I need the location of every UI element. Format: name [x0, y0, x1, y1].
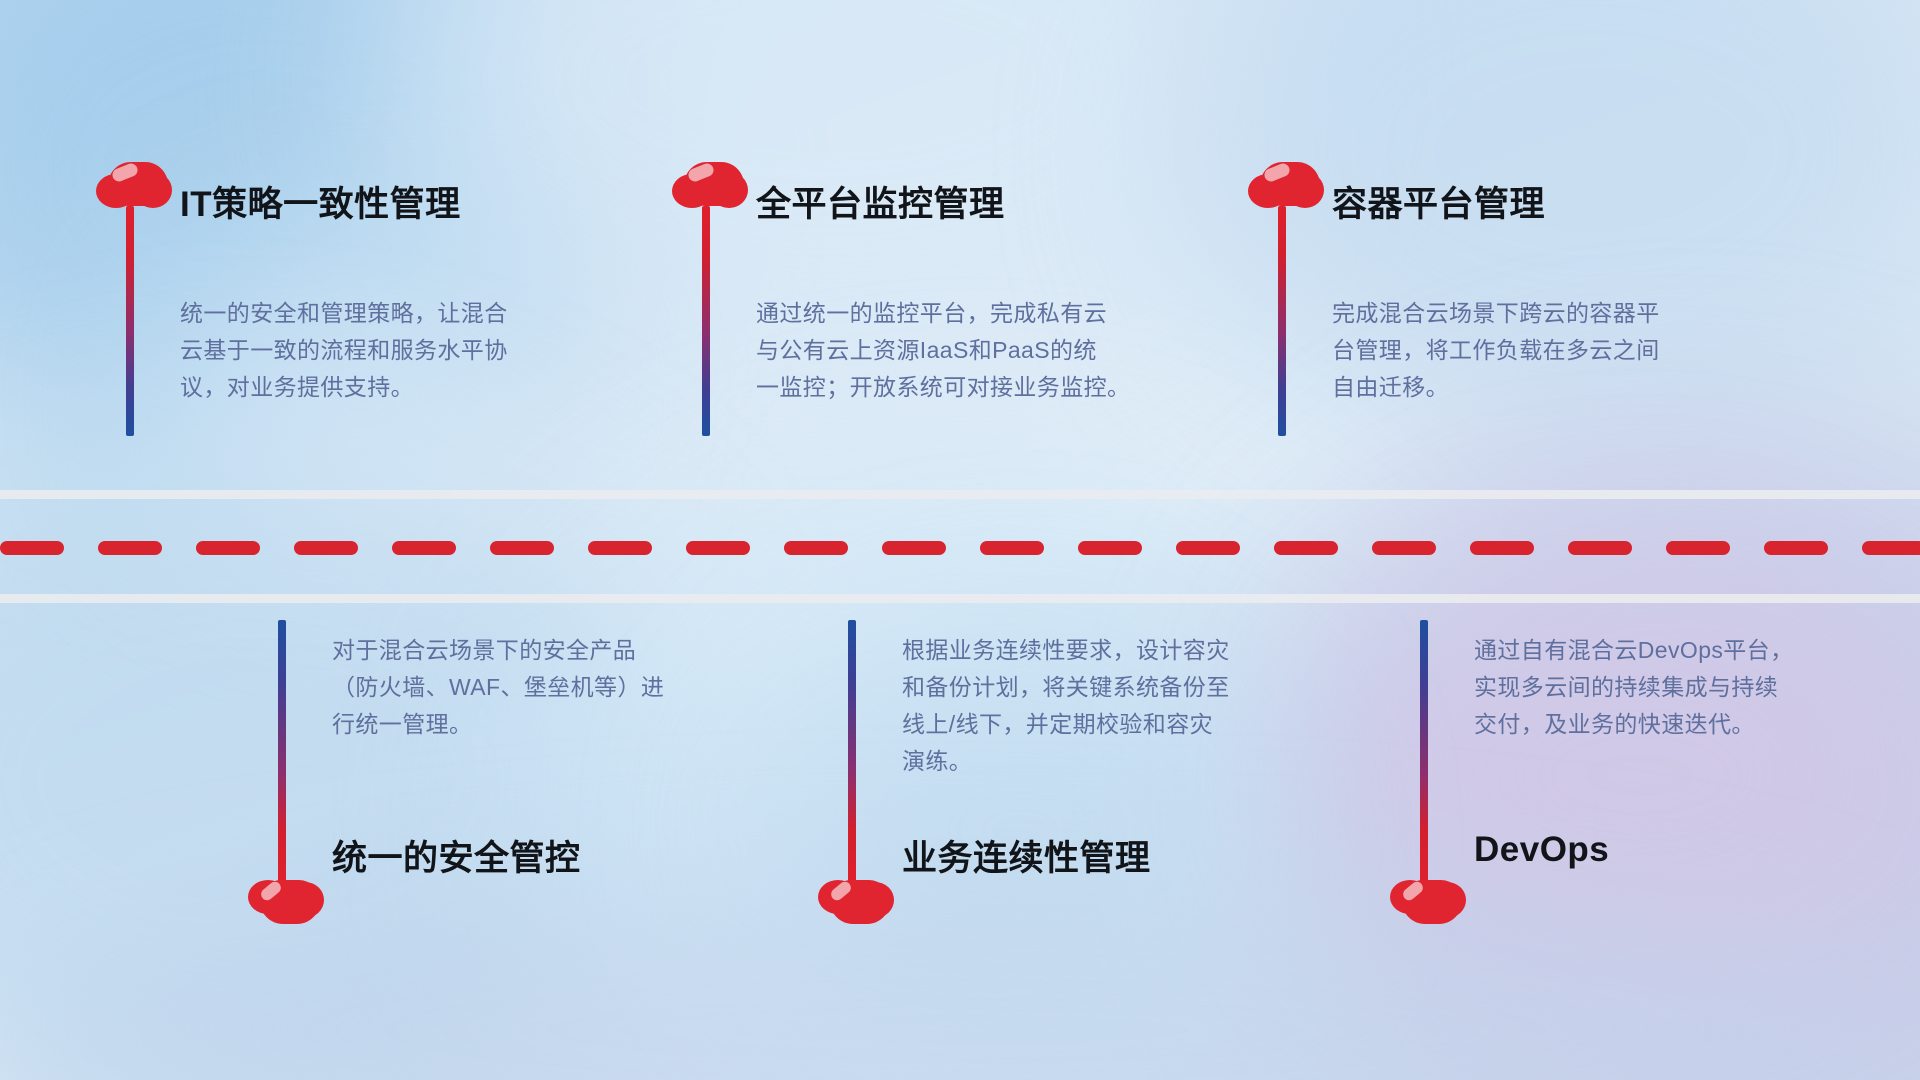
pin-stem	[278, 620, 286, 882]
body-line: 通过自有混合云DevOps平台，	[1474, 632, 1904, 669]
body-line: 统一的安全和管理策略，让混合	[180, 295, 600, 332]
pin-marker-top-2	[672, 160, 762, 210]
bottom-item-1-title: 统一的安全管控	[332, 830, 581, 881]
pin-stem	[1420, 620, 1428, 882]
dash-segment	[98, 541, 162, 555]
dash-segment	[980, 541, 1044, 555]
top-item-3-body: 完成混合云场景下跨云的容器平 台管理，将工作负载在多云之间 自由迁移。	[1332, 295, 1772, 406]
dash-segment	[1862, 541, 1920, 555]
body-line: 对于混合云场景下的安全产品	[332, 632, 762, 669]
body-line: 和备份计划，将关键系统备份至	[902, 669, 1332, 706]
cloud-icon	[248, 878, 324, 928]
top-item-1-body: 统一的安全和管理策略，让混合 云基于一致的流程和服务水平协 议，对业务提供支持。	[180, 295, 600, 406]
dash-segment	[1078, 541, 1142, 555]
pin-stem	[702, 206, 710, 436]
body-line: 云基于一致的流程和服务水平协	[180, 332, 600, 369]
body-line: 完成混合云场景下跨云的容器平	[1332, 295, 1772, 332]
dash-segment	[490, 541, 554, 555]
dash-segment	[882, 541, 946, 555]
dash-segment	[196, 541, 260, 555]
pin-marker-top-1	[96, 160, 186, 210]
top-item-1-title: IT策略一致性管理	[180, 176, 461, 227]
body-line: 交付，及业务的快速迭代。	[1474, 706, 1904, 743]
pin-stem	[1278, 206, 1286, 436]
divider-line-bottom	[0, 594, 1920, 603]
bottom-item-2-body: 根据业务连续性要求，设计容灾 和备份计划，将关键系统备份至 线上/线下，并定期校…	[902, 632, 1332, 780]
top-item-2-body: 通过统一的监控平台，完成私有云 与公有云上资源IaaS和PaaS的统 一监控；开…	[756, 295, 1196, 406]
infographic-canvas: IT策略一致性管理 统一的安全和管理策略，让混合 云基于一致的流程和服务水平协 …	[0, 0, 1920, 1080]
body-line: （防火墙、WAF、堡垒机等）进	[332, 669, 762, 706]
dash-segment	[1176, 541, 1240, 555]
bottom-item-3-title: DevOps	[1474, 830, 1609, 870]
divider-line-top	[0, 490, 1920, 499]
dash-segment	[294, 541, 358, 555]
cloud-icon	[96, 160, 172, 210]
dash-segment	[1666, 541, 1730, 555]
body-line: 演练。	[902, 743, 1332, 780]
body-line: 一监控；开放系统可对接业务监控。	[756, 369, 1196, 406]
body-line: 实现多云间的持续集成与持续	[1474, 669, 1904, 706]
dash-segment	[1568, 541, 1632, 555]
pin-stem	[848, 620, 856, 882]
dash-segment	[0, 541, 64, 555]
dash-segment	[784, 541, 848, 555]
dash-segment	[1372, 541, 1436, 555]
divider-dashed-line	[0, 541, 1920, 555]
bottom-item-1-body: 对于混合云场景下的安全产品 （防火墙、WAF、堡垒机等）进 行统一管理。	[332, 632, 762, 743]
dash-segment	[1274, 541, 1338, 555]
body-line: 台管理，将工作负载在多云之间	[1332, 332, 1772, 369]
dash-segment	[686, 541, 750, 555]
body-line: 线上/线下，并定期校验和容灾	[902, 706, 1332, 743]
body-line: 议，对业务提供支持。	[180, 369, 600, 406]
bottom-item-2-title: 业务连续性管理	[902, 830, 1151, 881]
dash-segment	[1764, 541, 1828, 555]
body-line: 自由迁移。	[1332, 369, 1772, 406]
pin-stem	[126, 206, 134, 436]
cloud-icon	[1390, 878, 1466, 928]
body-line: 与公有云上资源IaaS和PaaS的统	[756, 332, 1196, 369]
dash-segment	[588, 541, 652, 555]
cloud-icon	[1248, 160, 1324, 210]
dash-segment	[392, 541, 456, 555]
bottom-item-3-body: 通过自有混合云DevOps平台， 实现多云间的持续集成与持续 交付，及业务的快速…	[1474, 632, 1904, 743]
cloud-icon	[672, 160, 748, 210]
cloud-icon	[818, 878, 894, 928]
body-line: 通过统一的监控平台，完成私有云	[756, 295, 1196, 332]
body-line: 行统一管理。	[332, 706, 762, 743]
pin-marker-top-3	[1248, 160, 1338, 210]
top-item-3-title: 容器平台管理	[1332, 176, 1545, 227]
top-item-2-title: 全平台监控管理	[756, 176, 1005, 227]
dash-segment	[1470, 541, 1534, 555]
body-line: 根据业务连续性要求，设计容灾	[902, 632, 1332, 669]
